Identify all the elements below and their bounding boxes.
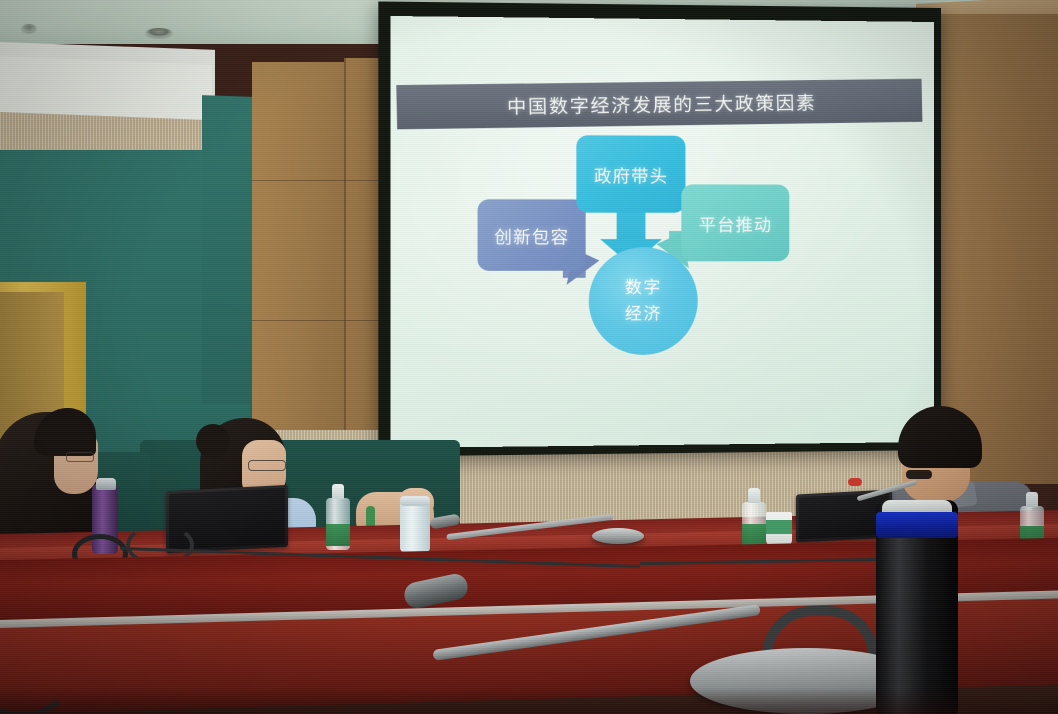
glasses-icon: [248, 460, 286, 471]
projection-screen: 中国数字经济发展的三大政策因素 创新包容 政府带头 平台推动 数字 经济: [390, 16, 934, 448]
wall-seam: [344, 58, 346, 456]
bottle-cap: [332, 484, 344, 499]
thermos-blue-band: [876, 512, 958, 538]
diagram-box-government: 政府带头: [576, 135, 685, 213]
speaker-mustache: [906, 470, 932, 479]
circle-label-line1: 数字: [625, 275, 662, 301]
slide-title: 中国数字经济发展的三大政策因素: [396, 79, 922, 130]
bottle-cap: [96, 478, 116, 490]
bottle-cap: [1026, 492, 1038, 507]
paper-cup-band: [766, 520, 792, 534]
bottle-label: [326, 524, 350, 546]
ceiling-downlight-icon: [146, 28, 172, 37]
conference-room-scene: 中国数字经济发展的三大政策因素 创新包容 政府带头 平台推动 数字 经济: [0, 0, 1058, 714]
participant-middle-hair-bun: [196, 424, 230, 458]
ceiling-downlight-icon: [22, 24, 36, 32]
bottle-label: [742, 524, 766, 546]
wood-wall-panel: [252, 62, 346, 454]
microphone-indicator-light: [848, 478, 862, 486]
glasses-icon: [66, 452, 94, 462]
slide-title-bar: 中国数字经济发展的三大政策因素: [396, 79, 922, 130]
bottle-cap: [748, 488, 760, 503]
slide-diagram: 创新包容 政府带头 平台推动 数字 经济: [390, 124, 934, 433]
diagram-box-innovation: 创新包容: [478, 199, 586, 271]
desk-shadow: [0, 688, 1058, 714]
thermos-light[interactable]: [400, 500, 430, 552]
diagram-box-platform: 平台推动: [681, 184, 789, 261]
teal-wall-panel-column: [202, 95, 254, 453]
diagram-center-circle: 数字 经济: [589, 247, 698, 355]
microphone-base[interactable]: [592, 528, 644, 544]
circle-label-line2: 经济: [625, 301, 662, 327]
water-bottle[interactable]: [742, 488, 766, 550]
thermos-cap: [400, 496, 430, 506]
water-bottle[interactable]: [326, 484, 350, 550]
